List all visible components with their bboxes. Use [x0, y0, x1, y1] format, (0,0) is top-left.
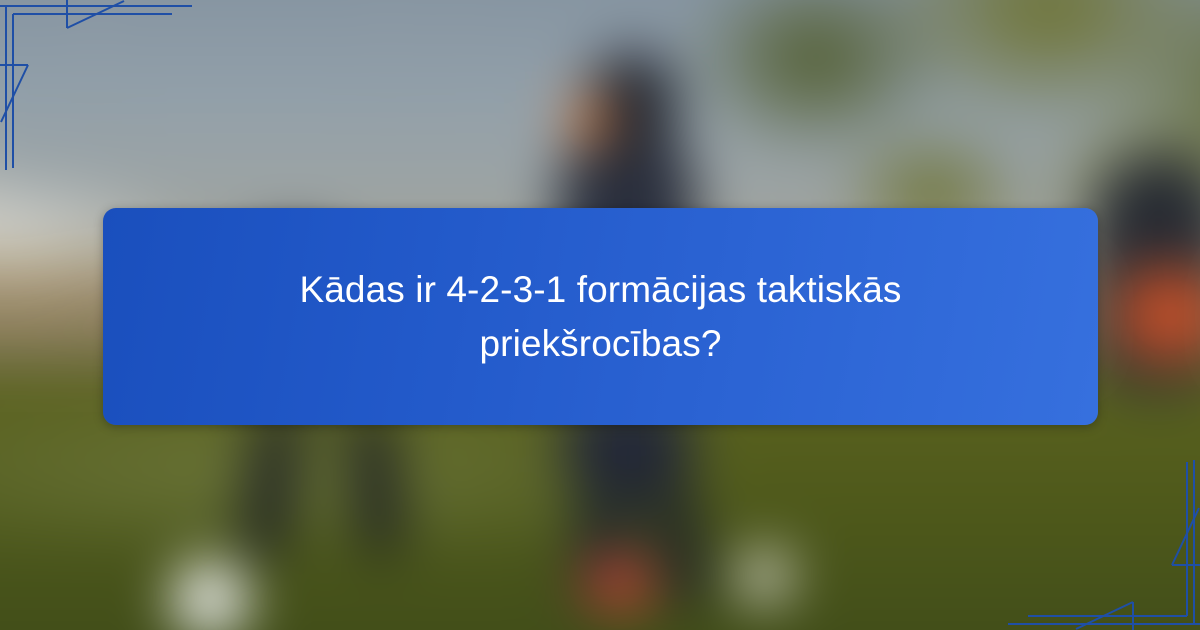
share-card-canvas: Kādas ir 4-2-3-1 formācijas taktiskās pr… — [0, 0, 1200, 630]
player-boot — [586, 561, 652, 603]
player-jersey — [1118, 267, 1200, 362]
headline-banner: Kādas ir 4-2-3-1 formācijas taktiskās pr… — [103, 208, 1098, 425]
player-sock — [740, 554, 789, 601]
player-face — [566, 92, 613, 147]
floodlight-pole — [460, 0, 467, 92]
headline-text: Kādas ir 4-2-3-1 formācijas taktiskās pr… — [221, 263, 981, 370]
floodlight-pole — [383, 0, 394, 124]
